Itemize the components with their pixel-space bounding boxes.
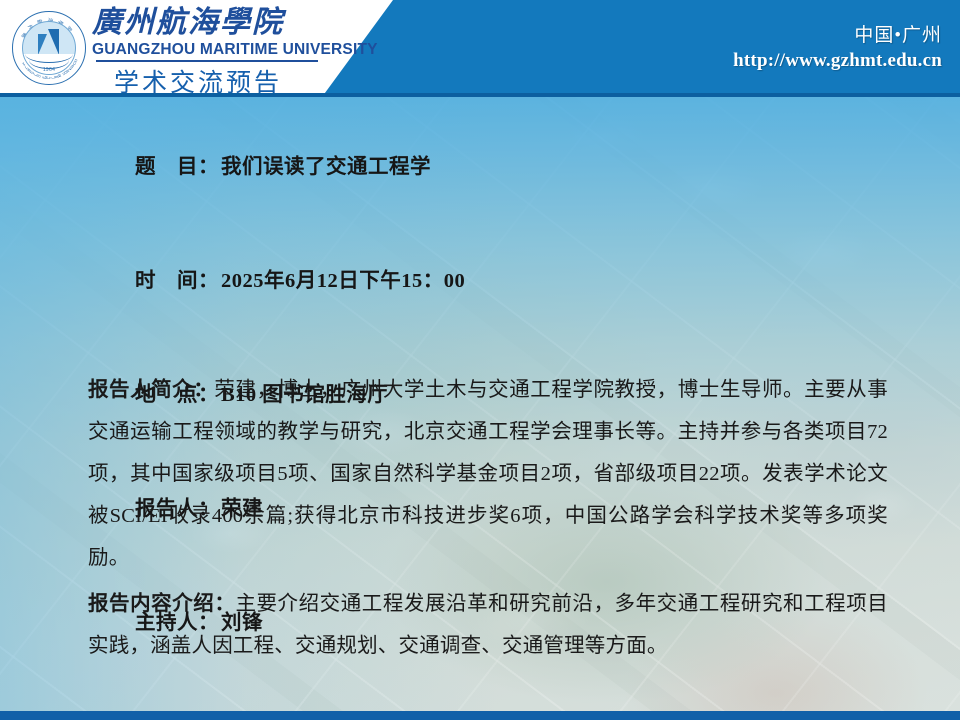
logo-underline <box>96 60 318 62</box>
header-location-label: 中国•广州 <box>733 24 942 48</box>
announcement-poster: 廣州航海學院GUANGZHOU MARITIME UNIVERSITY 1964… <box>0 0 960 720</box>
university-seal-icon: 廣州航海學院GUANGZHOU MARITIME UNIVERSITY 1964 <box>12 11 86 85</box>
speaker-bio-paragraph: 报告人简介：荣建，博士，广州大学土木与交通工程学院教授，博士生导师。主要从事交通… <box>88 369 888 579</box>
speaker-bio-text: 荣建，博士，广州大学土木与交通工程学院教授，博士生导师。主要从事交通运输工程领域… <box>88 379 888 569</box>
header-contact-block: 中国•广州 http://www.gzhmt.edu.cn <box>733 24 942 74</box>
seal-year-label: 1964 <box>23 67 75 73</box>
header-banner: 廣州航海學院GUANGZHOU MARITIME UNIVERSITY 1964… <box>0 0 960 97</box>
talk-abstract-paragraph: 报告内容介绍：主要介绍交通工程发展沿革和研究前沿，多年交通工程研究和工程项目实践… <box>88 583 888 667</box>
footer-bar <box>0 711 960 720</box>
university-name-en: GUANGZHOU MARITIME UNIVERSITY <box>92 41 378 59</box>
info-row-title: 题 目：我们误读了交通工程学 <box>90 110 910 224</box>
header-website-url[interactable]: http://www.gzhmt.edu.cn <box>733 48 942 74</box>
seal-inner-disc: 1964 <box>22 21 76 75</box>
speaker-bio-lead: 报告人简介： <box>88 379 214 401</box>
poster-subtitle: 学术交流预告 <box>114 63 282 97</box>
seal-sail-front-icon <box>44 29 59 55</box>
info-row-time: 时 间：2025年6月12日下午15：00 <box>90 224 910 338</box>
poster-content: 题 目：我们误读了交通工程学 时 间：2025年6月12日下午15：00 地 点… <box>0 97 960 720</box>
description-block: 报告人简介：荣建，博士，广州大学土木与交通工程学院教授，博士生导师。主要从事交通… <box>88 369 888 671</box>
info-label-time: 时 间： <box>135 270 219 292</box>
university-name-cn: 廣州航海學院 <box>92 6 284 40</box>
info-value-time: 2025年6月12日下午15：00 <box>219 270 465 292</box>
talk-abstract-lead: 报告内容介绍： <box>88 593 235 615</box>
info-value-title: 我们误读了交通工程学 <box>219 156 431 178</box>
info-label-title: 题 目： <box>135 156 219 178</box>
